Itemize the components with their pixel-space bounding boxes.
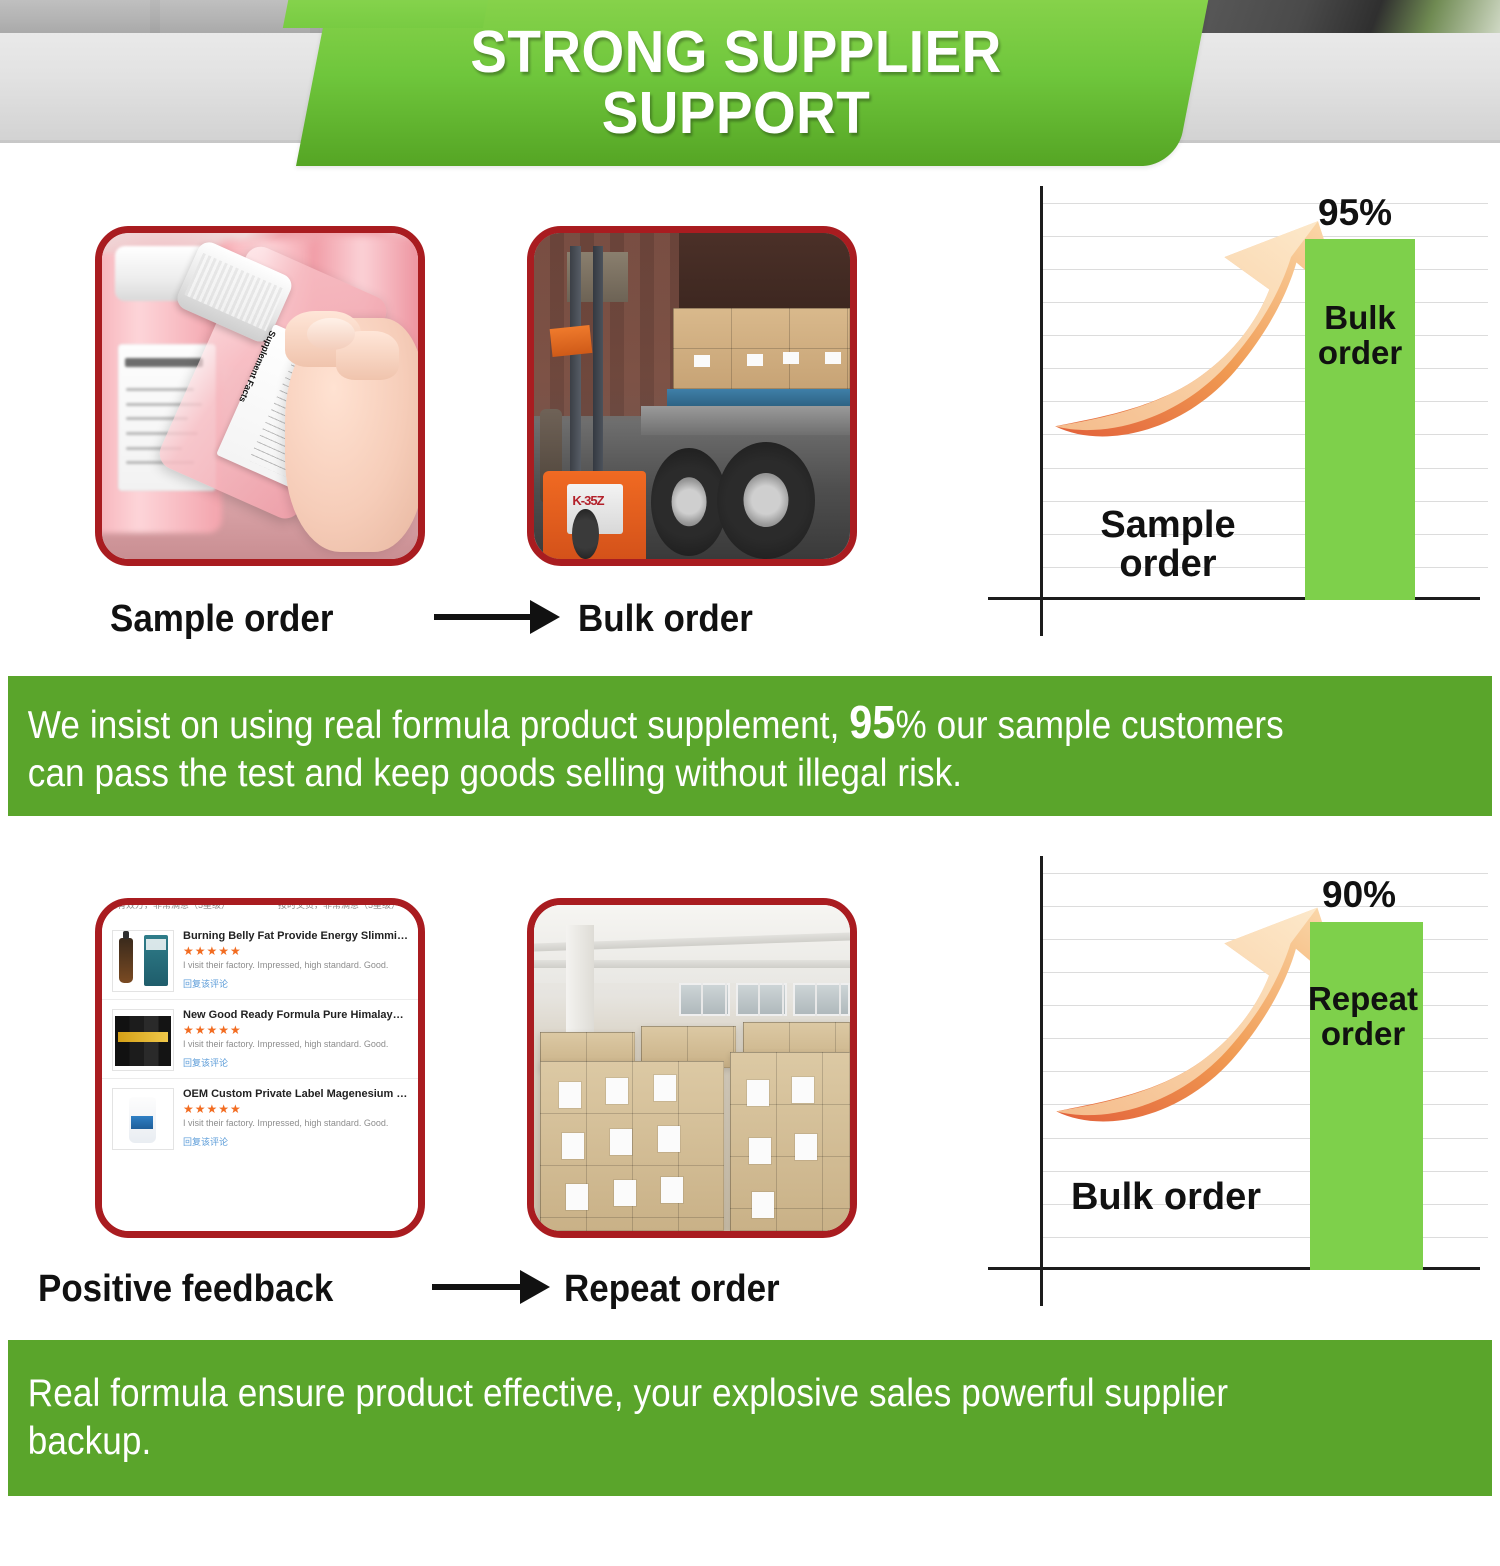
rating-stars: ★★★★★ [183, 945, 408, 958]
header-zone: STRONG SUPPLIER SUPPORT [0, 0, 1500, 172]
caption-repeat-order: Repeat order [564, 1268, 780, 1311]
review-product-title[interactable]: Burning Belly Fat Provide Energy Slimmin… [183, 930, 408, 942]
chart1-bar-bulk-order [1305, 239, 1415, 600]
product-thumbnail [112, 930, 174, 992]
arrow-line-row2 [432, 1284, 526, 1290]
review-text: I visit their factory. Impressed, high s… [183, 960, 408, 970]
chart-sample-to-bulk: 95% Bulk order Sample order [988, 186, 1488, 636]
caption-sample-order: Sample order [110, 598, 333, 641]
forklift-loading-photo: K-35Z [527, 226, 857, 566]
chart2-bar-label: Repeat order [1298, 982, 1428, 1051]
green-band-2-text: Real formula ensure product effective, y… [8, 1370, 1344, 1465]
review-product-title[interactable]: New Good Ready Formula Pure Himalayan Sh… [183, 1009, 408, 1021]
rating-stars: ★★★★★ [183, 1103, 408, 1116]
feedback-top-strip: 真有效方，非常满意（5星级） 按时交货，非常满意（5星级） [102, 905, 418, 921]
list-item[interactable]: Burning Belly Fat Provide Energy Slimmin… [102, 921, 418, 1000]
chart2-bar-repeat-order [1310, 922, 1423, 1270]
infographic-page: STRONG SUPPLIER SUPPORT [0, 0, 1500, 1566]
chart1-bar-label: Bulk order [1300, 301, 1420, 370]
arrow-head-row1 [530, 600, 560, 634]
feedback-strip-right: 按时交货，非常满意（5星级） [278, 905, 400, 911]
review-text: I visit their factory. Impressed, high s… [183, 1118, 408, 1128]
reply-link[interactable]: 回复该评论 [183, 1135, 408, 1148]
reply-link[interactable]: 回复该评论 [183, 1056, 408, 1069]
reply-link[interactable]: 回复该评论 [183, 977, 408, 990]
feedback-list: Burning Belly Fat Provide Energy Slimmin… [102, 921, 418, 1231]
page-title: STRONG SUPPLIER SUPPORT [327, 0, 1145, 166]
chart2-bar-percent: 90% [1322, 874, 1396, 916]
feedback-strip-left: 真有效方，非常满意（5星级） [108, 905, 230, 911]
chart1-y-axis [1040, 186, 1043, 636]
review-product-title[interactable]: OEM Custom Private Label Magenesium Glyc… [183, 1088, 408, 1100]
product-thumbnail [112, 1088, 174, 1150]
page-title-line1: STRONG SUPPLIER [470, 22, 1001, 83]
green-band-1-text: We insist on using real formula product … [8, 694, 1344, 798]
chart-bulk-to-repeat: 90% Repeat order Bulk order [988, 856, 1488, 1306]
review-text: I visit their factory. Impressed, high s… [183, 1039, 408, 1049]
background-photo-right [1170, 0, 1500, 33]
caption-bulk-order: Bulk order [578, 598, 753, 641]
chart1-base-label: Sample order [1048, 506, 1288, 584]
chart2-y-axis [1040, 856, 1043, 1306]
buyer-feedback-screenshot: 真有效方，非常满意（5星级） 按时交货，非常满意（5星级） Burning Be… [95, 898, 425, 1238]
product-thumbnail [112, 1009, 174, 1071]
green-band-1: We insist on using real formula product … [8, 676, 1492, 816]
chart1-bar-percent: 95% [1318, 192, 1392, 234]
caption-positive-feedback: Positive feedback [38, 1268, 333, 1311]
green-band-2: Real formula ensure product effective, y… [8, 1340, 1492, 1496]
list-item[interactable]: OEM Custom Private Label Magenesium Glyc… [102, 1079, 418, 1157]
chart2-base-label: Bulk order [1046, 1178, 1286, 1217]
rating-stars: ★★★★★ [183, 1024, 408, 1037]
supplement-bottles-photo: Supplement Facts [95, 226, 425, 566]
warehouse-pallets-photo [527, 898, 857, 1238]
list-item[interactable]: New Good Ready Formula Pure Himalayan Sh… [102, 1000, 418, 1079]
arrow-head-row2 [520, 1270, 550, 1304]
arrow-line-row1 [434, 614, 536, 620]
page-title-line2: SUPPORT [470, 83, 1001, 144]
